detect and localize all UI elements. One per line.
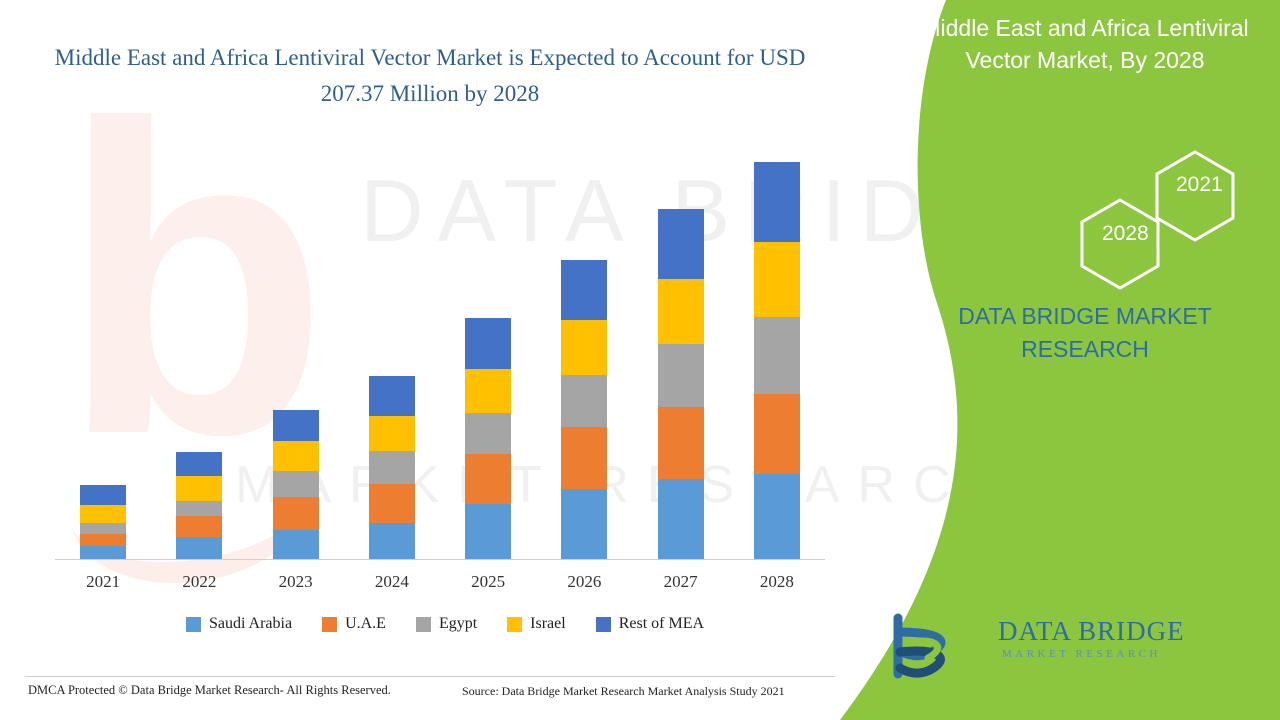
- bar-segment: [80, 534, 126, 546]
- legend-label: Saudi Arabia: [209, 615, 292, 633]
- bar-segment: [80, 505, 126, 523]
- bar-segment: [465, 504, 511, 559]
- x-axis-label: 2026: [561, 572, 607, 592]
- legend-item[interactable]: Rest of MEA: [596, 615, 704, 633]
- bar-column: [273, 410, 319, 559]
- bar-column: [754, 162, 800, 559]
- bar-segment: [465, 369, 511, 413]
- bar-segment: [658, 407, 704, 479]
- hexagon-icon: [990, 140, 1270, 290]
- bar-column: [80, 485, 126, 559]
- x-axis-label: 2025: [465, 572, 511, 592]
- x-axis-label: 2023: [273, 572, 319, 592]
- side-panel: Middle East and Africa Lentiviral Vector…: [840, 0, 1280, 720]
- bar-group: [55, 150, 825, 559]
- legend-label: U.A.E: [345, 615, 386, 633]
- bar-segment: [561, 260, 607, 320]
- bar-segment: [658, 479, 704, 559]
- bar-column: [465, 318, 511, 559]
- bar-segment: [176, 452, 222, 476]
- footer-copyright: DMCA Protected © Data Bridge Market Rese…: [28, 683, 391, 698]
- legend-label: Rest of MEA: [619, 615, 704, 633]
- company-logo: DATA BRIDGE MARKET RESEARCH: [880, 612, 1280, 682]
- x-axis-label: 2022: [176, 572, 222, 592]
- legend-item[interactable]: Saudi Arabia: [186, 615, 292, 633]
- footer-source: Source: Data Bridge Market Research Mark…: [462, 684, 785, 699]
- bar-segment: [658, 209, 704, 279]
- bar-segment: [369, 451, 415, 484]
- bar-segment: [754, 242, 800, 317]
- bar-segment: [273, 530, 319, 559]
- legend-item[interactable]: U.A.E: [322, 615, 386, 633]
- hexagon-badges: 2021 2028: [990, 140, 1270, 290]
- bar-segment: [273, 410, 319, 441]
- bar-segment: [80, 485, 126, 505]
- bar-segment: [369, 416, 415, 451]
- bar-segment: [658, 279, 704, 344]
- panel-brand-name: DATA BRIDGE MARKET RESEARCH: [895, 300, 1275, 367]
- bar-segment: [754, 317, 800, 393]
- infographic-page: b DATA BRIDGE MARKET RESEARCH Middle Eas…: [0, 0, 1280, 720]
- x-axis-line: [55, 559, 825, 560]
- bar-segment: [176, 537, 222, 559]
- hex-label-near: 2021: [1176, 173, 1223, 197]
- legend-swatch: [596, 617, 611, 632]
- panel-title: Middle East and Africa Lentiviral Vector…: [900, 12, 1270, 76]
- bar-segment: [465, 413, 511, 454]
- bar-column: [561, 260, 607, 559]
- bar-segment: [754, 162, 800, 242]
- bar-column: [176, 452, 222, 559]
- x-axis-label: 2021: [80, 572, 126, 592]
- legend-swatch: [322, 617, 337, 632]
- bar-segment: [369, 523, 415, 559]
- legend-swatch: [416, 617, 431, 632]
- bar-segment: [465, 454, 511, 504]
- bar-column: [369, 376, 415, 559]
- bar-segment: [561, 375, 607, 427]
- bar-segment: [561, 320, 607, 374]
- legend-label: Israel: [530, 615, 566, 633]
- x-axis-label: 2028: [754, 572, 800, 592]
- bar-segment: [561, 427, 607, 489]
- legend-label: Egypt: [439, 615, 477, 633]
- legend-swatch: [186, 617, 201, 632]
- logo-subtitle: MARKET RESEARCH: [1002, 648, 1161, 660]
- footer-divider: [25, 676, 835, 677]
- x-axis-label: 2027: [658, 572, 704, 592]
- chart-plot-area: [55, 150, 825, 560]
- bar-segment: [80, 523, 126, 534]
- bar-segment: [80, 546, 126, 559]
- bridge-logo-icon: [880, 612, 980, 682]
- bar-segment: [369, 376, 415, 416]
- hex-label-far: 2028: [1102, 222, 1149, 246]
- bar-segment: [658, 344, 704, 406]
- bar-segment: [369, 484, 415, 523]
- x-axis-label: 2024: [369, 572, 415, 592]
- logo-wordmark: DATA BRIDGE: [998, 616, 1185, 647]
- x-axis-labels: 20212022202320242025202620272028: [55, 572, 825, 592]
- bar-segment: [273, 497, 319, 530]
- legend-swatch: [507, 617, 522, 632]
- bar-segment: [176, 516, 222, 537]
- bar-segment: [561, 489, 607, 559]
- page-title: Middle East and Africa Lentiviral Vector…: [40, 40, 820, 111]
- bar-column: [658, 209, 704, 559]
- bar-segment: [273, 471, 319, 497]
- bar-segment: [176, 476, 222, 501]
- bar-segment: [176, 501, 222, 516]
- bar-segment: [465, 318, 511, 368]
- legend-item[interactable]: Egypt: [416, 615, 477, 633]
- legend-item[interactable]: Israel: [507, 615, 566, 633]
- chart-legend: Saudi ArabiaU.A.EEgyptIsraelRest of MEA: [80, 615, 810, 633]
- bar-segment: [754, 474, 800, 559]
- bar-segment: [754, 394, 800, 474]
- bar-segment: [273, 441, 319, 471]
